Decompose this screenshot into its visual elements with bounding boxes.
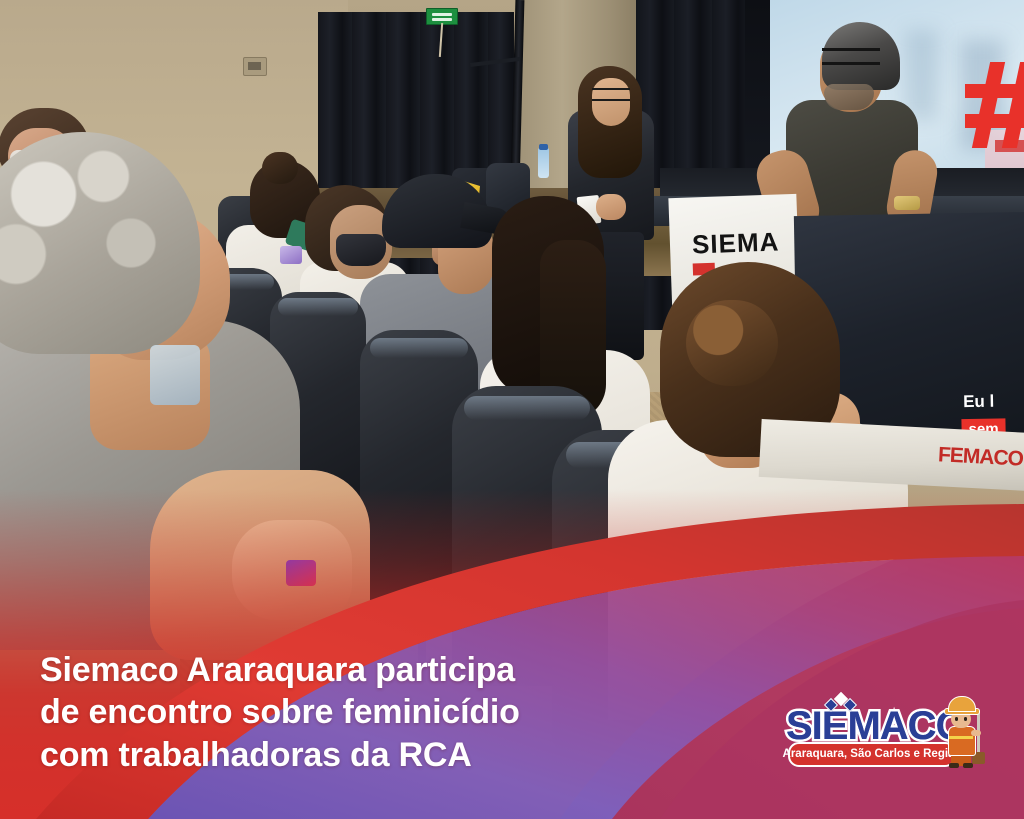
promo-card: SIEMA f U Eu l sem	[0, 0, 1024, 819]
mascot-arm	[971, 730, 981, 736]
logo-tagline: Araraquara, São Carlos e Região	[783, 749, 962, 761]
worker-mascot-icon	[936, 694, 990, 768]
headline-line-3: com trabalhadoras da RCA	[40, 734, 585, 777]
headline-line-1: Siemaco Araraquara participa	[40, 649, 585, 692]
siemaco-logo[interactable]: SIEMACO SIEMACO Araraquara, São Carlos e…	[786, 696, 990, 768]
headline: Siemaco Araraquara participa de encontro…	[40, 649, 585, 777]
mascot-boot	[963, 763, 973, 768]
mascot-eye	[964, 717, 967, 721]
mascot-hi-vis-stripe	[949, 736, 973, 739]
mascot-boot	[949, 763, 959, 768]
logo-tagline-pill: Araraquara, São Carlos e Região	[788, 742, 956, 767]
hard-hat-icon	[948, 696, 976, 712]
headline-line-2: de encontro sobre feminicídio	[40, 691, 585, 734]
logo-diamond-icons	[826, 694, 856, 712]
mascot-eye	[955, 717, 958, 721]
